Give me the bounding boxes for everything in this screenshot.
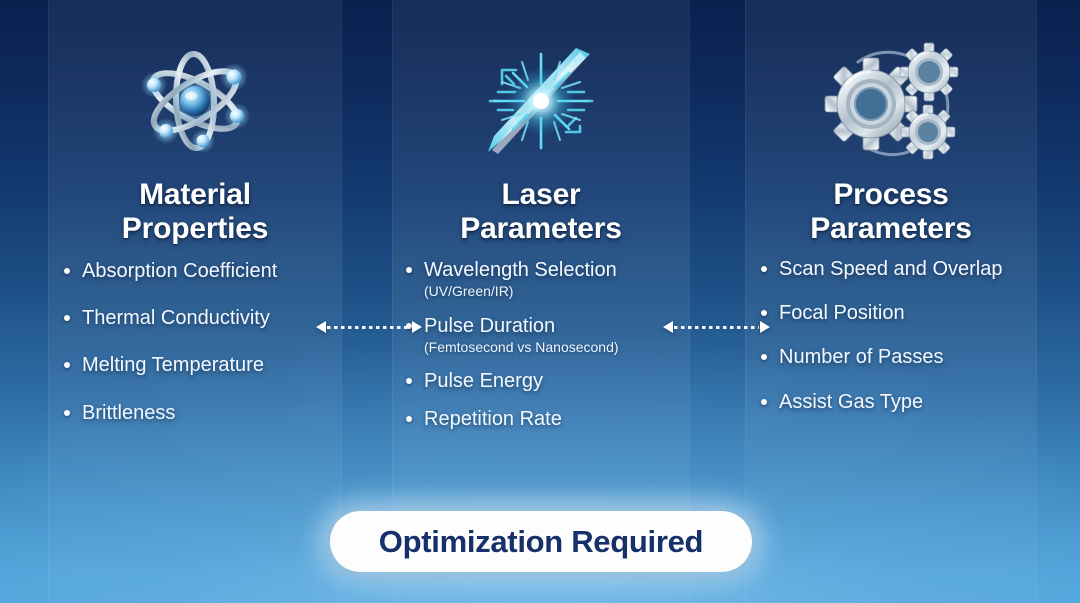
bullet-dot-icon (761, 266, 767, 272)
list-item[interactable]: Melting Temperature (62, 354, 332, 377)
title-line-1: Material (48, 178, 342, 212)
list-item-label: Wavelength Selection (424, 259, 617, 281)
list-item-label: Scan Speed and Overlap (779, 258, 1003, 280)
dotted-line (327, 326, 411, 329)
title-line-1: Laser (392, 178, 690, 212)
list-item-label: Brittleness (82, 402, 175, 424)
list-item[interactable]: Absorption Coefficient (62, 260, 332, 283)
bullet-dot-icon (761, 399, 767, 405)
list-item-label: Thermal Conductivity (82, 307, 270, 329)
arrow-right-icon (412, 321, 422, 333)
banner-label: Optimization Required (379, 524, 703, 560)
optimization-required-banner[interactable]: Optimization Required (330, 511, 752, 572)
list-item-sublabel: (UV/Green/IR) (424, 283, 680, 301)
list-item-label: Absorption Coefficient (82, 260, 277, 282)
list-item-label: Pulse Duration (424, 315, 555, 337)
list-item-label: Pulse Energy (424, 370, 543, 392)
title-line-1: Process (745, 178, 1037, 212)
list-item[interactable]: Focal Position (759, 302, 1027, 325)
column-title-process: Process Parameters (745, 178, 1037, 245)
column-title-laser: Laser Parameters (392, 178, 690, 245)
column-material-properties: Material Properties Absorption Coefficie… (48, 0, 342, 603)
list-item[interactable]: Pulse Duration (Femtosecond vs Nanosecon… (404, 315, 680, 357)
list-item[interactable]: Brittleness (62, 402, 332, 425)
bullet-list-process: Scan Speed and Overlap Focal Position Nu… (745, 258, 1037, 435)
list-item[interactable]: Pulse Energy (404, 370, 680, 393)
infographic-canvas: Material Properties Absorption Coefficie… (0, 0, 1080, 603)
bullet-dot-icon (761, 354, 767, 360)
list-item[interactable]: Thermal Conductivity (62, 307, 332, 330)
list-item[interactable]: Number of Passes (759, 346, 1027, 369)
arrow-right-icon (760, 321, 770, 333)
list-item[interactable]: Assist Gas Type (759, 391, 1027, 414)
arrow-left-icon (316, 321, 326, 333)
bullet-dot-icon (64, 268, 70, 274)
bullet-dot-icon (406, 267, 412, 273)
dotted-line (674, 326, 759, 329)
list-item-label: Assist Gas Type (779, 391, 923, 413)
bullet-dot-icon (406, 416, 412, 422)
list-item-sublabel: (Femtosecond vs Nanosecond) (424, 339, 680, 357)
title-line-2: Properties (48, 212, 342, 246)
gears-icon (745, 38, 1037, 163)
list-item[interactable]: Scan Speed and Overlap (759, 258, 1027, 281)
arrow-left-icon (663, 321, 673, 333)
list-item[interactable]: Wavelength Selection (UV/Green/IR) (404, 259, 680, 301)
title-line-2: Parameters (745, 212, 1037, 246)
connector-laser-to-process (663, 319, 770, 335)
bullet-list-laser: Wavelength Selection (UV/Green/IR) Pulse… (392, 259, 690, 445)
list-item[interactable]: Repetition Rate (404, 408, 680, 431)
laser-beam-icon (392, 38, 690, 163)
list-item-label: Repetition Rate (424, 408, 562, 430)
bullet-dot-icon (64, 362, 70, 368)
list-item-label: Number of Passes (779, 346, 944, 368)
bullet-dot-icon (406, 378, 412, 384)
atom-icon (48, 38, 342, 163)
bullet-list-material: Absorption Coefficient Thermal Conductiv… (48, 260, 342, 449)
list-item-label: Melting Temperature (82, 354, 264, 376)
bullet-dot-icon (64, 410, 70, 416)
column-process-parameters: Process Parameters Scan Speed and Overla… (745, 0, 1037, 603)
list-item-label: Focal Position (779, 302, 905, 324)
connector-material-to-laser (316, 319, 422, 335)
bullet-dot-icon (761, 310, 767, 316)
bullet-dot-icon (64, 315, 70, 321)
column-title-material: Material Properties (48, 178, 342, 245)
title-line-2: Parameters (392, 212, 690, 246)
